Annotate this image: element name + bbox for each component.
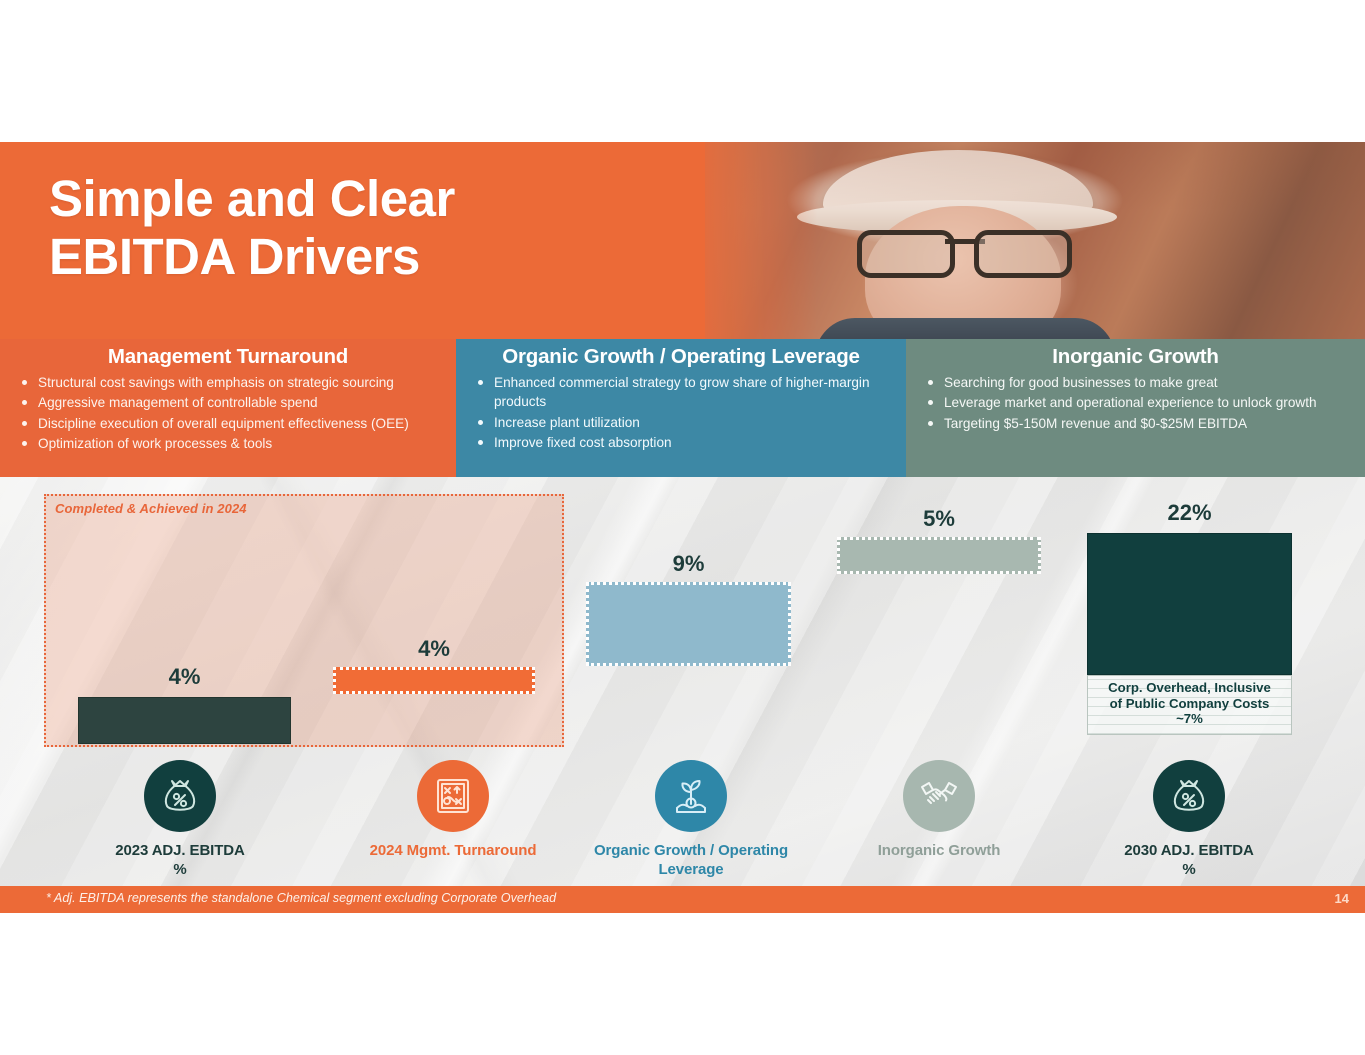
panel-inorganic-growth: Inorganic Growth Searching for good busi… (906, 339, 1365, 477)
icon-label-2024: 2024 Mgmt. Turnaround (366, 842, 540, 861)
bar-value-2024: 4% (336, 636, 532, 662)
highlight-box-label: Completed & Achieved in 2024 (55, 501, 247, 516)
panel-organic-growth: Organic Growth / Operating Leverage Enha… (456, 339, 906, 477)
panel-bullets-organic-growth: Enhanced commercial strategy to grow sha… (470, 373, 892, 452)
panel-bullets-inorganic-growth: Searching for good businesses to make gr… (920, 373, 1351, 433)
photo-fade-overlay (705, 142, 1365, 339)
bar-value-2030: 22% (1088, 500, 1291, 526)
list-item: Increase plant utilization (470, 413, 892, 432)
panel-title-management-turnaround: Management Turnaround (14, 345, 442, 369)
panel-bullets-management-turnaround: Structural cost savings with emphasis on… (14, 373, 442, 453)
page-title-line1: Simple and Clear (49, 170, 455, 228)
icon-label-2023: 2023 ADJ. EBITDA % (108, 842, 252, 879)
list-item: Structural cost savings with emphasis on… (14, 373, 442, 392)
icon-cell-2023: 2023 ADJ. EBITDA % (108, 760, 252, 879)
icon-label-inorganic: Inorganic Growth (864, 842, 1014, 861)
panel-title-inorganic-growth: Inorganic Growth (920, 345, 1351, 369)
corp-overhead-line2: of Public Company Costs (1088, 696, 1291, 712)
corp-overhead-line3: ~7% (1088, 711, 1291, 727)
list-item: Aggressive management of controllable sp… (14, 393, 442, 412)
handshake-icon (903, 760, 975, 832)
bottom-margin (0, 913, 1365, 1055)
money-bag-percent-icon (1153, 760, 1225, 832)
bar-2030-adj-ebitda: 22% (1087, 533, 1292, 675)
list-item: Improve fixed cost absorption (470, 433, 892, 452)
corp-overhead-line1: Corp. Overhead, Inclusive (1088, 680, 1291, 696)
page-number: 14 (1335, 891, 1349, 906)
bar-2023-adj-ebitda: 4% (78, 697, 291, 744)
money-bag-percent-icon (144, 760, 216, 832)
top-margin (0, 0, 1365, 142)
list-item: Targeting $5-150M revenue and $0-$25M EB… (920, 414, 1351, 433)
slide: Simple and Clear EBITDA Drivers Manageme… (0, 0, 1365, 1055)
bar-value-organic: 9% (589, 551, 788, 577)
driver-panels: Management Turnaround Structural cost sa… (0, 339, 1365, 477)
bar-organic-growth: 9% (586, 582, 791, 666)
list-item: Optimization of work processes & tools (14, 434, 442, 453)
list-item: Enhanced commercial strategy to grow sha… (470, 373, 892, 412)
page-title-line2: EBITDA Drivers (49, 228, 455, 286)
footer-bar: * Adj. EBITDA represents the standalone … (0, 886, 1365, 913)
seedling-growth-icon (655, 760, 727, 832)
icon-cell-2030: 2030 ADJ. EBITDA % (1117, 760, 1261, 879)
worker-portrait-photo (705, 142, 1365, 339)
list-item: Leverage market and operational experien… (920, 393, 1351, 412)
bar-2024-mgmt-turnaround: 4% (333, 667, 535, 694)
corp-overhead-block: Corp. Overhead, Inclusive of Public Comp… (1087, 675, 1292, 735)
list-item: Searching for good businesses to make gr… (920, 373, 1351, 392)
list-item: Discipline execution of overall equipmen… (14, 414, 442, 433)
icon-cell-inorganic: Inorganic Growth (864, 760, 1014, 861)
footnote: * Adj. EBITDA represents the standalone … (46, 891, 556, 905)
bar-value-2023: 4% (79, 664, 290, 690)
strategy-playbook-icon (417, 760, 489, 832)
bar-inorganic-growth: 5% (837, 537, 1041, 574)
icon-label-organic: Organic Growth / Operating Leverage (593, 842, 789, 879)
page-title: Simple and Clear EBITDA Drivers (49, 170, 455, 286)
icon-label-2030: 2030 ADJ. EBITDA % (1117, 842, 1261, 879)
header-banner: Simple and Clear EBITDA Drivers (0, 142, 1365, 339)
panel-management-turnaround: Management Turnaround Structural cost sa… (0, 339, 456, 477)
icon-cell-organic: Organic Growth / Operating Leverage (593, 760, 789, 879)
icon-row: 2023 ADJ. EBITDA % 2024 Mgmt. Turnaround (0, 760, 1365, 886)
panel-title-organic-growth: Organic Growth / Operating Leverage (470, 345, 892, 369)
icon-cell-2024: 2024 Mgmt. Turnaround (366, 760, 540, 861)
bar-value-inorganic: 5% (840, 506, 1038, 532)
